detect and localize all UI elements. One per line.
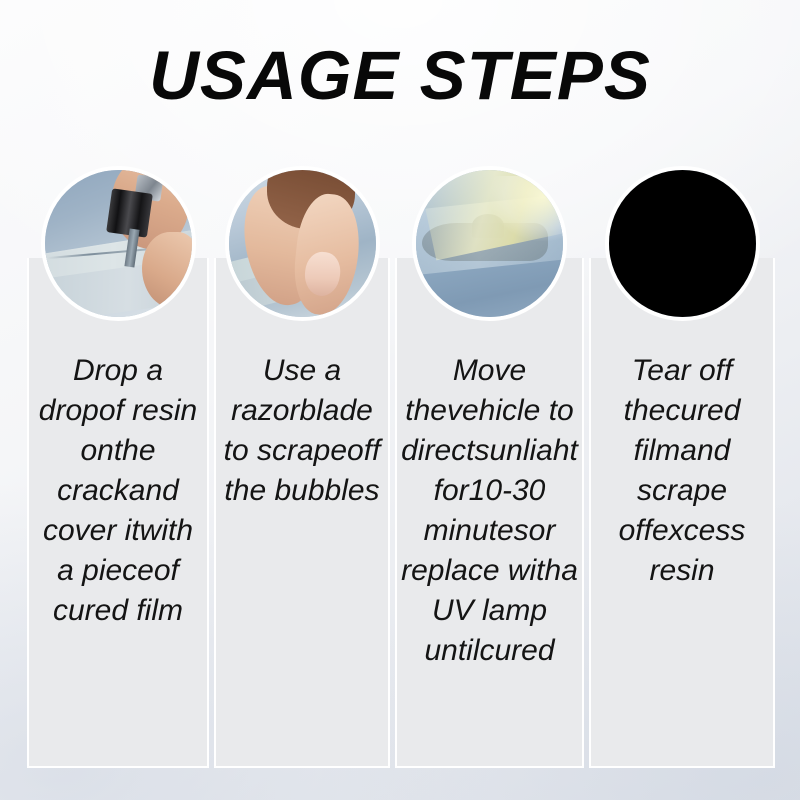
- usage-steps-row: Drop a dropof resin onthe crackand cover…: [27, 166, 775, 768]
- step-image-3: [412, 166, 567, 321]
- sun-glare-shape: [490, 176, 568, 241]
- step-text-1: Drop a dropof resin onthe crackand cover…: [27, 351, 209, 631]
- step-card-3: Move thevehicle to directsunliaht for10-…: [395, 166, 584, 768]
- step-card-panel-2: [214, 258, 390, 768]
- step-card-1: Drop a dropof resin onthe crackand cover…: [27, 166, 209, 768]
- step-image-1: [41, 166, 196, 321]
- step-image-2: [225, 166, 380, 321]
- step-image-4: [605, 166, 760, 321]
- page-title: USAGE STEPS: [0, 36, 800, 116]
- step-text-2: Use a razorblade to scrapeoff the bubble…: [214, 351, 390, 511]
- windshield-in-sunlight-photo: [416, 170, 563, 317]
- step-text-3: Move thevehicle to directsunliaht for10-…: [395, 351, 584, 671]
- fingers-pinching-film-photo: [229, 170, 376, 317]
- step-text-4: Tear off thecured filmand scrape offexce…: [589, 351, 775, 591]
- missing-image-black-circle: [609, 170, 756, 317]
- resin-applicator-on-glass-photo: [45, 170, 192, 317]
- step-card-2: Use a razorblade to scrapeoff the bubble…: [214, 166, 390, 768]
- step-card-4: Tear off thecured filmand scrape offexce…: [589, 166, 775, 768]
